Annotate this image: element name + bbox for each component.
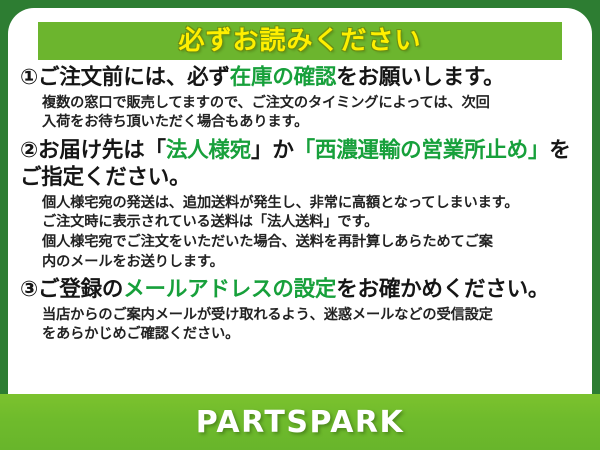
notice-item-marker: ③: [20, 277, 38, 302]
notice-panel: 必ずお読みください ①ご注文前には、必ず在庫の確認をお願いします。複数の窓口で販…: [8, 8, 592, 442]
page-title: 必ずお読みください: [178, 28, 421, 54]
notice-item: ②お届け先は「法人様宛」か「西濃運輸の営業所止め」をご指定ください。個人様宅宛の…: [8, 137, 592, 272]
notice-item: ①ご注文前には、必ず在庫の確認をお願いします。複数の窓口で販売してますので、ご注…: [8, 64, 592, 133]
notice-item-marker: ②: [20, 138, 38, 163]
notice-heading-text: をお願いします。: [336, 65, 504, 90]
footer-band: PARTSPARK: [0, 394, 600, 450]
header-banner: 必ずお読みください: [38, 22, 562, 60]
notice-body-line: 当店からのご案内メールが受け取れるよう、迷惑メールなどの受信設定: [42, 306, 574, 326]
notice-item-heading: ①ご注文前には、必ず在庫の確認をお願いします。: [8, 64, 592, 92]
notice-card: 必ずお読みください ①ご注文前には、必ず在庫の確認をお願いします。複数の窓口で販…: [0, 0, 600, 450]
notice-heading-text: ご注文前には、必ず: [38, 65, 230, 90]
brand-logo: PARTSPARK: [196, 405, 405, 440]
notice-list: ①ご注文前には、必ず在庫の確認をお願いします。複数の窓口で販売してますので、ご注…: [8, 64, 592, 349]
notice-item-body: 当店からのご案内メールが受け取れるよう、迷惑メールなどの受信設定をあらかじめご確…: [8, 304, 592, 345]
notice-item-heading: ②お届け先は「法人様宛」か「西濃運輸の営業所止め」をご指定ください。: [8, 137, 592, 192]
notice-heading-text: ご登録の: [38, 277, 123, 302]
notice-highlight-text: メールアドレスの設定: [123, 277, 336, 302]
notice-item-body: 個人様宅宛の発送は、追加送料が発生し、非常に高額となってしまいます。ご注文時に表…: [8, 192, 592, 272]
notice-highlight-text: 法人様宛: [166, 138, 251, 163]
notice-item-marker: ①: [20, 65, 38, 90]
notice-body-line: 内のメールをお送りします。: [42, 253, 574, 273]
notice-body-line: 複数の窓口で販売してますので、ご注文のタイミングによっては、次回: [42, 94, 574, 114]
notice-body-line: 個人様宅宛でご注文をいただいた場合、送料を再計算しあらためてご案: [42, 233, 574, 253]
notice-body-line: 入荷をお待ち頂いただく場合もあります。: [42, 113, 574, 133]
notice-heading-text: お届け先は「: [38, 138, 166, 163]
notice-body-line: 個人様宅宛の発送は、追加送料が発生し、非常に高額となってしまいます。: [42, 194, 574, 214]
notice-heading-text: をお確かめください。: [336, 277, 549, 302]
notice-highlight-text: 「西濃運輸の営業所止め」: [294, 138, 550, 163]
notice-item-heading: ③ご登録のメールアドレスの設定をお確かめください。: [8, 276, 592, 304]
notice-body-line: ご注文時に表示されている送料は「法人送料」です。: [42, 213, 574, 233]
notice-item-body: 複数の窓口で販売してますので、ご注文のタイミングによっては、次回入荷をお待ち頂い…: [8, 92, 592, 133]
notice-heading-text: 」か: [251, 138, 294, 163]
notice-highlight-text: 在庫の確認: [230, 65, 337, 90]
notice-item: ③ご登録のメールアドレスの設定をお確かめください。当店からのご案内メールが受け取…: [8, 276, 592, 345]
notice-body-line: をあらかじめご確認ください。: [42, 325, 574, 345]
